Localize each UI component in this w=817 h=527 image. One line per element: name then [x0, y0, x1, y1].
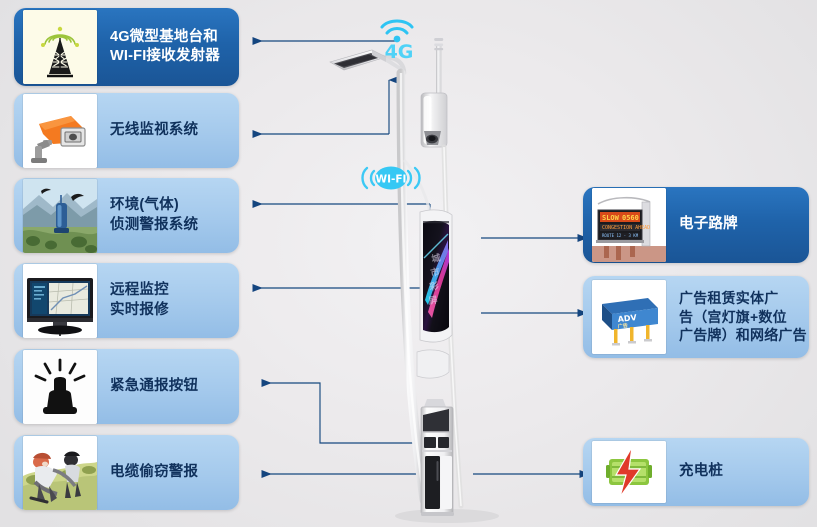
panel-advertising-lease-line-3: 广告牌）和网络广告 — [679, 326, 807, 345]
svg-text:屏: 屏 — [428, 295, 439, 307]
badge-wifi: WI-FI — [355, 162, 427, 199]
badge-wifi-label: WI-FI — [376, 174, 407, 186]
panel-charging-pile-line-1: 充电桩 — [679, 462, 723, 481]
panel-charging-pile-text: 充电桩 — [679, 462, 723, 481]
panel-wireless-surveillance-text: 无线监视系统 — [110, 121, 198, 140]
panel-cable-theft-alarm-text: 电缆偷窃警报 — [110, 463, 198, 482]
charging-bolt-icon — [592, 441, 666, 503]
panel-charging-pile[interactable]: 充电桩 — [583, 438, 809, 506]
camera-housing — [421, 93, 447, 147]
environment-sensor-icon — [23, 179, 97, 253]
panel-electronic-road-sign[interactable]: SLOW0560 CONGESTION AHEAD ROUTE 12 - 3 K… — [583, 187, 809, 263]
panel-wireless-surveillance[interactable]: 无线监视系统 — [14, 93, 239, 168]
panel-4g-wifi-text: 4G微型基地台和 WI-FI接收发射器 — [110, 28, 220, 67]
svg-text:ROUTE 12 - 3 KM: ROUTE 12 - 3 KM — [602, 233, 639, 238]
panel-remote-monitoring-text: 远程监控 实时报修 — [110, 281, 169, 320]
panel-emergency-button[interactable]: 紧急通报按钮 — [14, 349, 239, 424]
digital-display-screen: 城 市 彩 屏 — [420, 210, 452, 342]
radio-tower-icon — [23, 10, 97, 84]
svg-text:SLOW: SLOW — [602, 214, 620, 222]
panel-electronic-road-sign-text: 电子路牌 — [679, 215, 738, 234]
panel-wireless-surveillance-line-1: 无线监视系统 — [110, 121, 198, 140]
panel-environment-gas-detection-text: 环境(气体) 侦测警报系统 — [110, 196, 198, 235]
monitor-screen-icon — [23, 264, 97, 338]
wifi-broadcast-icon: WI-FI — [355, 162, 427, 194]
badge-4g: 4G — [376, 10, 422, 65]
panel-environment-gas-detection[interactable]: 环境(气体) 侦测警报系统 — [14, 178, 239, 253]
panel-electronic-road-sign-line-1: 电子路牌 — [679, 215, 738, 234]
security-camera-icon — [23, 94, 97, 168]
panel-advertising-lease[interactable]: ADV 广告 广告租赁实体广 告（宫灯旗+数位 广告牌）和网络广告 — [583, 276, 809, 358]
svg-text:广告: 广告 — [617, 322, 628, 330]
panel-remote-monitoring-line-1: 远程监控 — [110, 281, 169, 300]
svg-text:CONGESTION AHEAD: CONGESTION AHEAD — [602, 225, 650, 231]
panel-advertising-lease-line-1: 广告租赁实体广 — [679, 289, 807, 308]
led-road-sign-icon: SLOW0560 CONGESTION AHEAD ROUTE 12 - 3 K… — [592, 188, 666, 262]
panel-emergency-button-text: 紧急通报按钮 — [110, 377, 198, 396]
diagram-canvas: 城 市 彩 屏 — [0, 0, 817, 527]
panel-remote-monitoring-line-2: 实时报修 — [110, 301, 169, 320]
panel-environment-gas-detection-line-2: 侦测警报系统 — [110, 216, 198, 235]
panel-cable-theft-alarm-line-1: 电缆偷窃警报 — [110, 463, 198, 482]
wifi-signal-icon: 4G — [376, 10, 422, 60]
svg-text:0560: 0560 — [622, 214, 639, 222]
panel-cable-theft-alarm[interactable]: 电缆偷窃警报 — [14, 435, 239, 510]
cable-thief-icon — [23, 436, 97, 510]
panel-remote-monitoring[interactable]: 远程监控 实时报修 — [14, 263, 239, 338]
badge-4g-label: 4G — [385, 41, 414, 60]
panel-4g-wifi-line-2: WI-FI接收发射器 — [110, 47, 220, 66]
alarm-beacon-icon — [23, 350, 97, 424]
panel-advertising-lease-text: 广告租赁实体广 告（宫灯旗+数位 广告牌）和网络广告 — [679, 289, 807, 345]
panel-4g-wifi[interactable]: 4G微型基地台和 WI-FI接收发射器 — [14, 8, 239, 86]
panel-emergency-button-line-1: 紧急通报按钮 — [110, 377, 198, 396]
billboard-icon: ADV 广告 — [592, 280, 666, 354]
panel-environment-gas-detection-line-1: 环境(气体) — [110, 196, 198, 215]
panel-4g-wifi-line-1: 4G微型基地台和 — [110, 28, 220, 47]
pole-base-cabinet — [421, 399, 454, 516]
panel-advertising-lease-line-2: 告（宫灯旗+数位 — [679, 308, 807, 327]
